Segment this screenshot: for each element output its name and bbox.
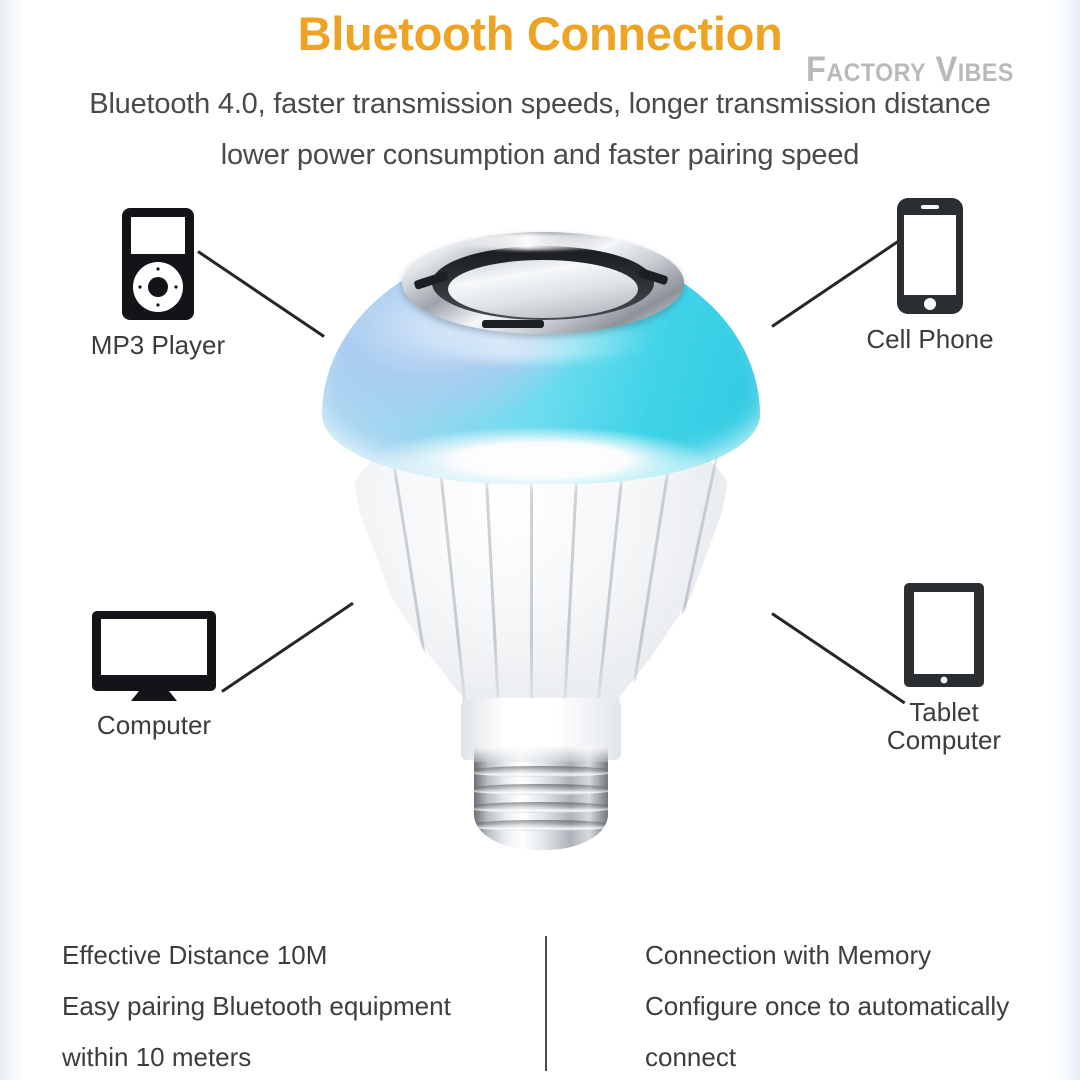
device-computer: Computer (40, 608, 268, 739)
device-label-tablet-line-1: Tablet (909, 697, 978, 727)
device-label-mp3-player: MP3 Player (48, 331, 268, 359)
device-mp3-player: MP3 Player (48, 205, 268, 359)
subtitle-line-2: lower power consumption and faster pairi… (0, 139, 1080, 172)
bulb-speaker-highlight (446, 234, 626, 250)
feature-left-line-3: within 10 meters (62, 1032, 451, 1080)
bulb-dome-rim (326, 424, 756, 510)
bulb-e27-screw-base (474, 746, 608, 850)
brand-watermark: Factory Vibes (806, 50, 1014, 90)
feature-divider (545, 936, 547, 1071)
feature-section: Effective Distance 10M Easy pairing Blue… (0, 922, 1080, 1080)
device-tablet: Tablet Computer (838, 580, 1050, 754)
product-image-bluetooth-bulb (296, 228, 786, 848)
subtitle-line-1: Bluetooth 4.0, faster transmission speed… (0, 88, 1080, 121)
device-label-tablet: Tablet Computer (838, 698, 1050, 754)
device-label-cell-phone: Cell Phone (820, 325, 1040, 353)
product-infographic: Bluetooth Connection Factory Vibes Bluet… (0, 0, 1080, 1080)
tablet-icon (838, 580, 1050, 690)
mp3-player-icon (48, 205, 268, 323)
bulb-speaker-notch-bottom (482, 320, 544, 328)
cell-phone-icon (820, 195, 1040, 317)
feature-left-line-2: Easy pairing Bluetooth equipment (62, 981, 451, 1032)
feature-left-line-1: Effective Distance 10M (62, 930, 451, 981)
feature-right-line-2: Configure once to automatically (645, 981, 1009, 1032)
feature-column-left: Effective Distance 10M Easy pairing Blue… (62, 930, 451, 1080)
desktop-computer-icon (40, 608, 268, 703)
device-label-computer: Computer (40, 711, 268, 739)
feature-column-right: Connection with Memory Configure once to… (645, 930, 1009, 1080)
feature-right-line-1: Connection with Memory (645, 930, 1009, 981)
bulb-speaker-cone (448, 260, 638, 318)
feature-right-line-3: connect (645, 1032, 1009, 1080)
device-cell-phone: Cell Phone (820, 195, 1040, 353)
device-label-tablet-line-2: Computer (887, 725, 1001, 755)
